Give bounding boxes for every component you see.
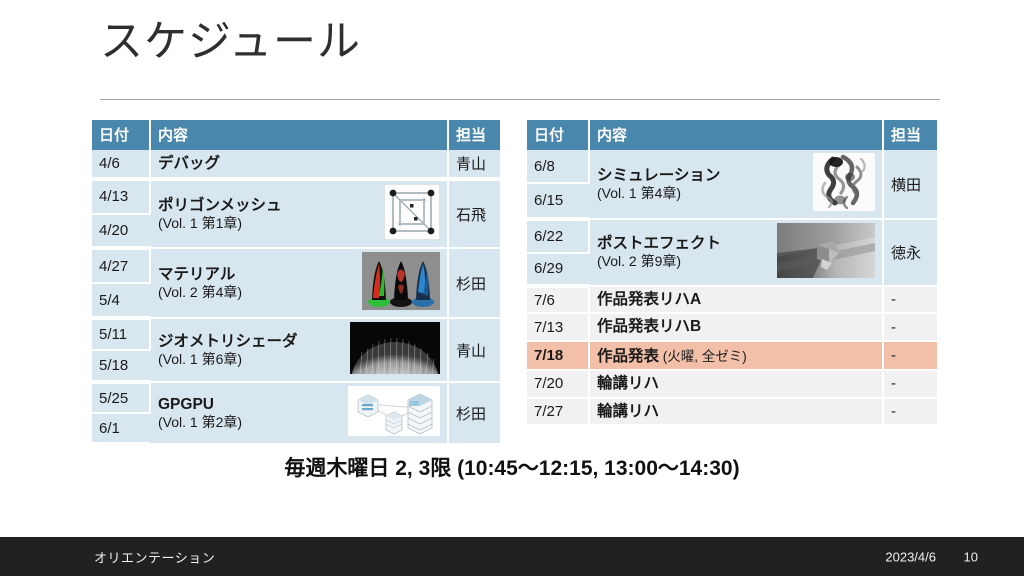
cell-date: 5/18 bbox=[92, 350, 150, 382]
cell-date: 7/13 bbox=[527, 313, 589, 340]
cell-staff: - bbox=[883, 398, 937, 425]
cell-date: 6/15 bbox=[527, 183, 589, 219]
table-row: 4/13 ポリゴンメッシュ (Vol. 1 第1章) bbox=[92, 179, 500, 214]
table-row: 4/27 マテリアル (Vol. 2 第4章) bbox=[92, 248, 500, 283]
column-header-content: 内容 bbox=[589, 120, 883, 150]
topic-title: 輪講リハ bbox=[597, 374, 875, 393]
topic-title: ジオメトリシェーダ bbox=[158, 332, 298, 351]
table-header-row: 日付 内容 担当 bbox=[527, 120, 937, 150]
cell-date: 4/20 bbox=[92, 214, 150, 249]
cell-staff: 徳永 bbox=[883, 219, 937, 286]
page-title: スケジュール bbox=[100, 18, 940, 67]
cell-content: 作品発表 (火曜, 全ゼミ) bbox=[589, 341, 883, 370]
cell-staff: - bbox=[883, 341, 937, 370]
topic-title: マテリアル bbox=[158, 265, 242, 284]
topic-subtitle: (Vol. 1 第4章) bbox=[597, 185, 720, 203]
cell-date: 5/11 bbox=[92, 318, 150, 350]
cell-date: 6/22 bbox=[527, 219, 589, 253]
topic-title: デバッグ bbox=[158, 154, 220, 173]
footer-course-label: オリエンテーション bbox=[94, 547, 215, 566]
cell-content: デバッグ bbox=[150, 150, 448, 179]
cell-content: 輪講リハ bbox=[589, 398, 883, 425]
topic-note: (火曜, 全ゼミ) bbox=[659, 349, 747, 364]
cell-staff: 杉田 bbox=[448, 248, 500, 318]
title-divider bbox=[100, 99, 940, 100]
table-row: 5/11 ジオメトリシェーダ (Vol. 1 第6章) bbox=[92, 318, 500, 350]
topic-subtitle: (Vol. 1 第6章) bbox=[158, 351, 298, 369]
cell-content: シミュレーション (Vol. 1 第4章) bbox=[589, 150, 883, 219]
table-row: 5/25 GPGPU (Vol. 1 第2章) bbox=[92, 382, 500, 413]
cell-date: 6/8 bbox=[527, 150, 589, 183]
topic-title: 輪講リハ bbox=[597, 402, 875, 421]
cell-date: 4/6 bbox=[92, 150, 150, 179]
cell-content: 作品発表リハA bbox=[589, 286, 883, 313]
topic-title: シミュレーション bbox=[597, 166, 720, 185]
cell-content: 作品発表リハB bbox=[589, 313, 883, 340]
table-header-row: 日付 内容 担当 bbox=[92, 120, 500, 150]
topic-title: 作品発表 bbox=[597, 348, 659, 365]
topic-title: 作品発表リハB bbox=[597, 317, 875, 336]
footer-date: 2023/4/6 bbox=[885, 549, 936, 564]
slide-footer: オリエンテーション 2023/4/6 10 bbox=[0, 537, 1024, 576]
cell-staff: 石飛 bbox=[448, 179, 500, 248]
cell-content: GPGPU (Vol. 1 第2章) bbox=[150, 382, 448, 444]
table-row: 6/8 シミュレーション (Vol. 1 第4章) bbox=[527, 150, 937, 183]
cell-date: 6/29 bbox=[527, 253, 589, 287]
cell-staff: - bbox=[883, 286, 937, 313]
cell-content: ポリゴンメッシュ (Vol. 1 第1章) bbox=[150, 179, 448, 248]
schedule-table-right: 日付 内容 担当 6/8 シミュレーション (Vol. 1 第4章) bbox=[527, 120, 937, 426]
cell-date: 7/18 bbox=[527, 341, 589, 370]
cell-staff: 青山 bbox=[448, 318, 500, 382]
smoke-simulation-thumbnail bbox=[813, 153, 875, 215]
column-header-content: 内容 bbox=[150, 120, 448, 150]
cell-content: マテリアル (Vol. 2 第4章) bbox=[150, 248, 448, 318]
material-statues-thumbnail bbox=[362, 252, 440, 314]
cell-date: 5/4 bbox=[92, 283, 150, 318]
column-header-date: 日付 bbox=[92, 120, 150, 150]
topic-title: ポストエフェクト bbox=[597, 234, 721, 253]
column-header-staff: 担当 bbox=[448, 120, 500, 150]
cell-content: 輪講リハ bbox=[589, 370, 883, 397]
cell-staff: 杉田 bbox=[448, 382, 500, 444]
cell-staff: - bbox=[883, 370, 937, 397]
topic-subtitle: (Vol. 2 第9章) bbox=[597, 253, 721, 271]
cell-date: 5/25 bbox=[92, 382, 150, 413]
column-header-staff: 担当 bbox=[883, 120, 937, 150]
cell-staff: 横田 bbox=[883, 150, 937, 219]
table-row: 7/6 作品発表リハA - bbox=[527, 286, 937, 313]
footer-page-number: 10 bbox=[964, 549, 978, 564]
table-row: 7/27 輪講リハ - bbox=[527, 398, 937, 425]
topic-title: ポリゴンメッシュ bbox=[158, 196, 282, 215]
post-effect-render-thumbnail bbox=[777, 223, 875, 282]
table-row: 7/20 輪講リハ - bbox=[527, 370, 937, 397]
cell-date: 4/13 bbox=[92, 179, 150, 214]
schedule-table-left: 日付 内容 担当 4/6 デバッグ 青山 4/13 bbox=[92, 120, 500, 446]
polygon-mesh-wireframe-thumbnail bbox=[384, 184, 440, 244]
table-row-highlighted: 7/18 作品発表 (火曜, 全ゼミ) - bbox=[527, 341, 937, 370]
column-header-date: 日付 bbox=[527, 120, 589, 150]
cell-content: ジオメトリシェーダ (Vol. 1 第6章) bbox=[150, 318, 448, 382]
cell-date: 7/27 bbox=[527, 398, 589, 425]
table-row: 4/6 デバッグ 青山 bbox=[92, 150, 500, 179]
cell-date: 7/6 bbox=[527, 286, 589, 313]
schedule-caption: 毎週木曜日 2, 3限 (10:45〜12:15, 13:00〜14:30) bbox=[0, 452, 1024, 482]
cell-staff: 青山 bbox=[448, 150, 500, 179]
cell-date: 6/1 bbox=[92, 413, 150, 444]
cell-content: ポストエフェクト (Vol. 2 第9章) bbox=[589, 219, 883, 286]
topic-title: GPGPU bbox=[158, 395, 242, 414]
topic-subtitle: (Vol. 2 第4章) bbox=[158, 284, 242, 302]
topic-subtitle: (Vol. 1 第2章) bbox=[158, 414, 242, 432]
fur-rendering-thumbnail bbox=[350, 322, 440, 378]
slide-canvas: スケジュール 日付 内容 担当 4/6 デバッグ bbox=[0, 0, 1024, 576]
table-row: 7/13 作品発表リハB - bbox=[527, 313, 937, 340]
cell-date: 4/27 bbox=[92, 248, 150, 283]
topic-title: 作品発表リハA bbox=[597, 290, 875, 309]
cell-staff: - bbox=[883, 313, 937, 340]
table-row: 6/22 ポストエフェクト (Vol. 2 第9章) bbox=[527, 219, 937, 253]
topic-subtitle: (Vol. 1 第1章) bbox=[158, 215, 282, 233]
title-area: スケジュール bbox=[100, 18, 940, 67]
server-cluster-thumbnail bbox=[348, 386, 440, 440]
cell-date: 7/20 bbox=[527, 370, 589, 397]
